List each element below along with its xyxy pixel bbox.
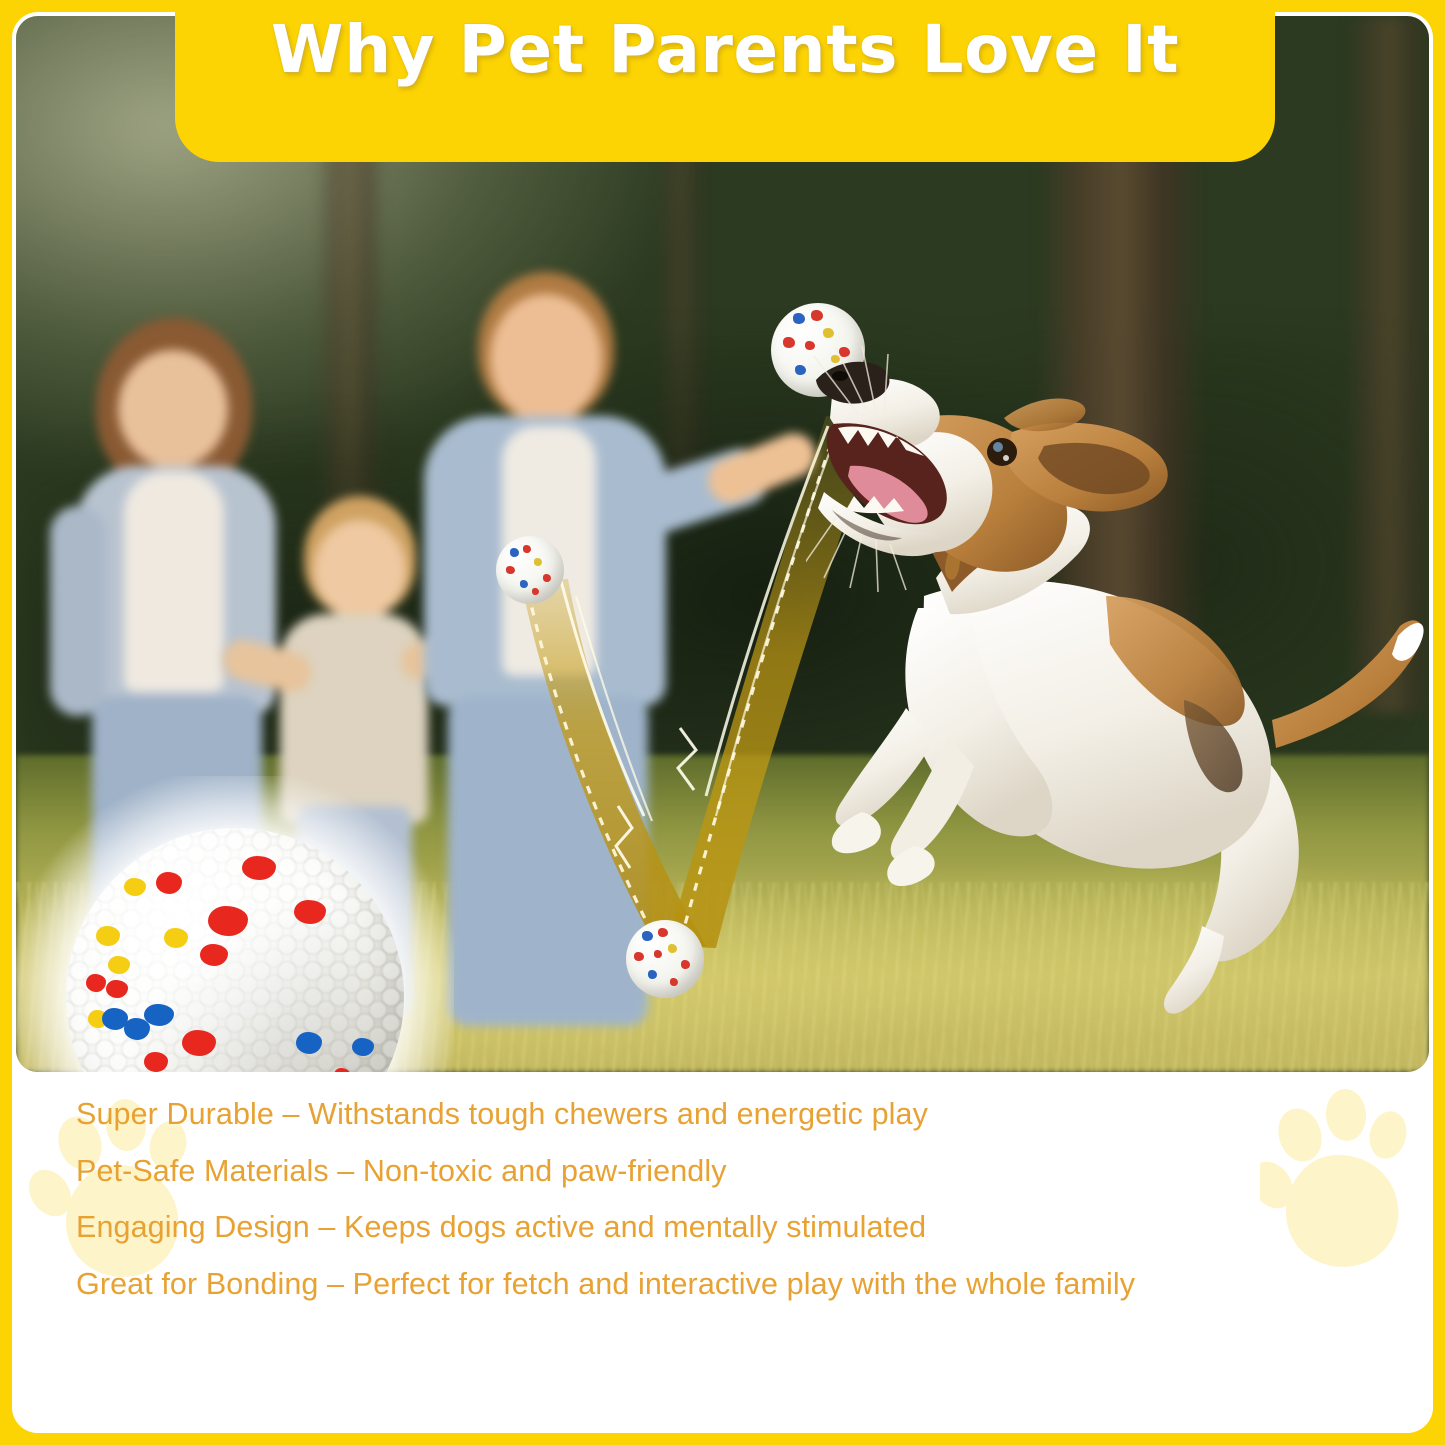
jack-russell-dog (806, 296, 1429, 1056)
page-title: Why Pet Parents Love It (175, 11, 1275, 88)
benefit-item-2: Pet-Safe Materials – Non-toxic and paw-f… (76, 1156, 1393, 1187)
benefits-panel: Super Durable – Withstands tough chewers… (12, 1073, 1433, 1433)
hero-photo (16, 16, 1429, 1072)
benefit-item-3: Engaging Design – Keeps dogs active and … (76, 1212, 1393, 1243)
product-poster: Super Durable – Withstands tough chewers… (0, 0, 1445, 1445)
poster-card: Super Durable – Withstands tough chewers… (12, 12, 1433, 1433)
benefit-item-1: Super Durable – Withstands tough chewers… (76, 1099, 1393, 1130)
product-inset (44, 806, 424, 1072)
ball-in-hand (496, 536, 564, 604)
ball-bouncing (626, 920, 704, 998)
benefit-list: Super Durable – Withstands tough chewers… (76, 1099, 1393, 1325)
benefit-item-4: Great for Bonding – Perfect for fetch an… (76, 1269, 1393, 1300)
title-banner: Why Pet Parents Love It (175, 0, 1275, 162)
